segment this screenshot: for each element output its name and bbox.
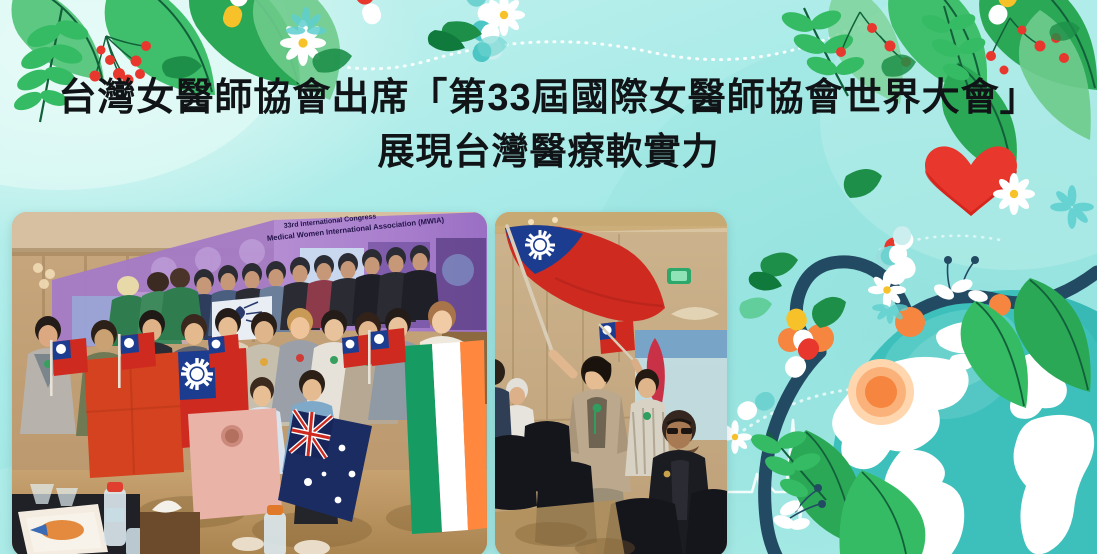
page-title: 台灣女醫師協會出席「第33屆國際女醫師協會世界大會」 展現台灣醫療軟實力 [0,78,1097,172]
flag-waving-photo [495,212,727,554]
title-line-2: 展現台灣醫療軟實力 [0,132,1097,172]
berry-icon [836,23,1069,75]
title-line-1: 台灣女醫師協會出席「第33屆國際女醫師協會世界大會」 [0,78,1097,119]
group-photo-with-flags: 33rd International Congress Medical Wome… [12,212,487,554]
promo-banner: 33rd International Congress Medical Wome… [0,0,1097,554]
stethoscope-accents [778,294,1011,425]
leaf-icon [748,256,1091,554]
globe-icon [832,290,1097,554]
white-flower-icon [772,256,989,532]
stethoscope-icon [765,262,1097,554]
